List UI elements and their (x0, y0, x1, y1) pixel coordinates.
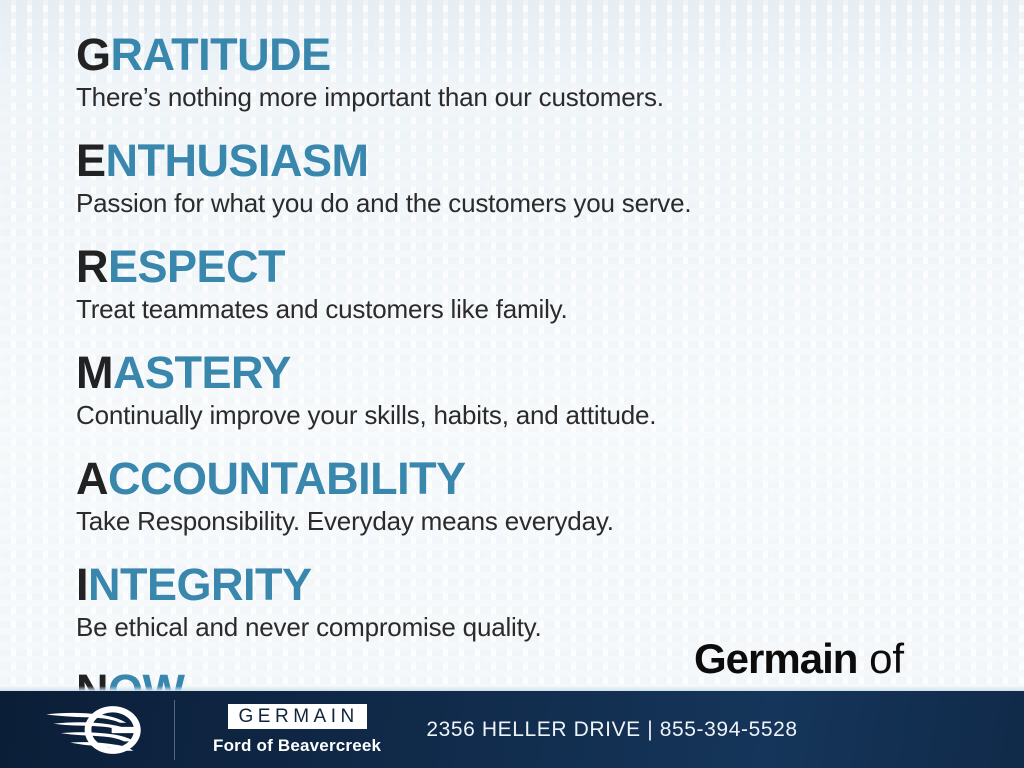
value-rest: NTEGRITY (88, 559, 312, 610)
value-description-mastery: Continually improve your skills, habits,… (76, 399, 1004, 431)
footer-bar: 2356 HELLER DRIVE | 855-394-5528 (0, 691, 1024, 768)
value-initial: A (76, 453, 108, 504)
value-title-mastery: MASTERY (76, 348, 1004, 398)
value-block-enthusiasm: ENTHUSIASM Passion for what you do and t… (76, 136, 1004, 219)
value-title-gratitude: GRATITUDE (76, 30, 1004, 80)
value-block-respect: RESPECT Treat teammates and customers li… (76, 242, 1004, 325)
core-values-list: GRATITUDE There’s nothing more important… (76, 30, 1004, 739)
value-title-respect: RESPECT (76, 242, 1004, 292)
value-block-accountability: ACCOUNTABILITY Take Responsibility. Ever… (76, 454, 1004, 537)
value-rest: NTHUSIASM (106, 135, 369, 186)
value-initial: G (76, 29, 111, 80)
value-description-enthusiasm: Passion for what you do and the customer… (76, 187, 1004, 219)
value-block-mastery: MASTERY Continually improve your skills,… (76, 348, 1004, 431)
value-rest: ASTERY (113, 347, 291, 398)
value-rest: ESPECT (108, 241, 285, 292)
value-title-accountability: ACCOUNTABILITY (76, 454, 1004, 504)
value-block-integrity: INTEGRITY Be ethical and never compromis… (76, 560, 1004, 643)
value-initial: I (76, 559, 88, 610)
value-description-accountability: Take Responsibility. Everyday means ever… (76, 505, 1004, 537)
value-title-enthusiasm: ENTHUSIASM (76, 136, 1004, 186)
value-rest: CCOUNTABILITY (108, 453, 466, 504)
value-title-integrity: INTEGRITY (76, 560, 1004, 610)
value-initial: R (76, 241, 108, 292)
clipped-headline-germain-of: Germain of (694, 636, 904, 682)
value-initial: M (76, 347, 113, 398)
value-description-respect: Treat teammates and customers like famil… (76, 293, 1004, 325)
clipped-headline-light: of (869, 635, 904, 682)
value-description-gratitude: There’s nothing more important than our … (76, 81, 1004, 113)
value-block-gratitude: GRATITUDE There’s nothing more important… (76, 30, 1004, 113)
value-rest: RATITUDE (111, 29, 331, 80)
poster-screen: GRATITUDE There’s nothing more important… (0, 0, 1024, 768)
clipped-headline-bold: Germain (694, 635, 857, 682)
footer-contact-line: 2356 HELLER DRIVE | 855-394-5528 (0, 718, 1024, 742)
value-initial: E (76, 135, 106, 186)
